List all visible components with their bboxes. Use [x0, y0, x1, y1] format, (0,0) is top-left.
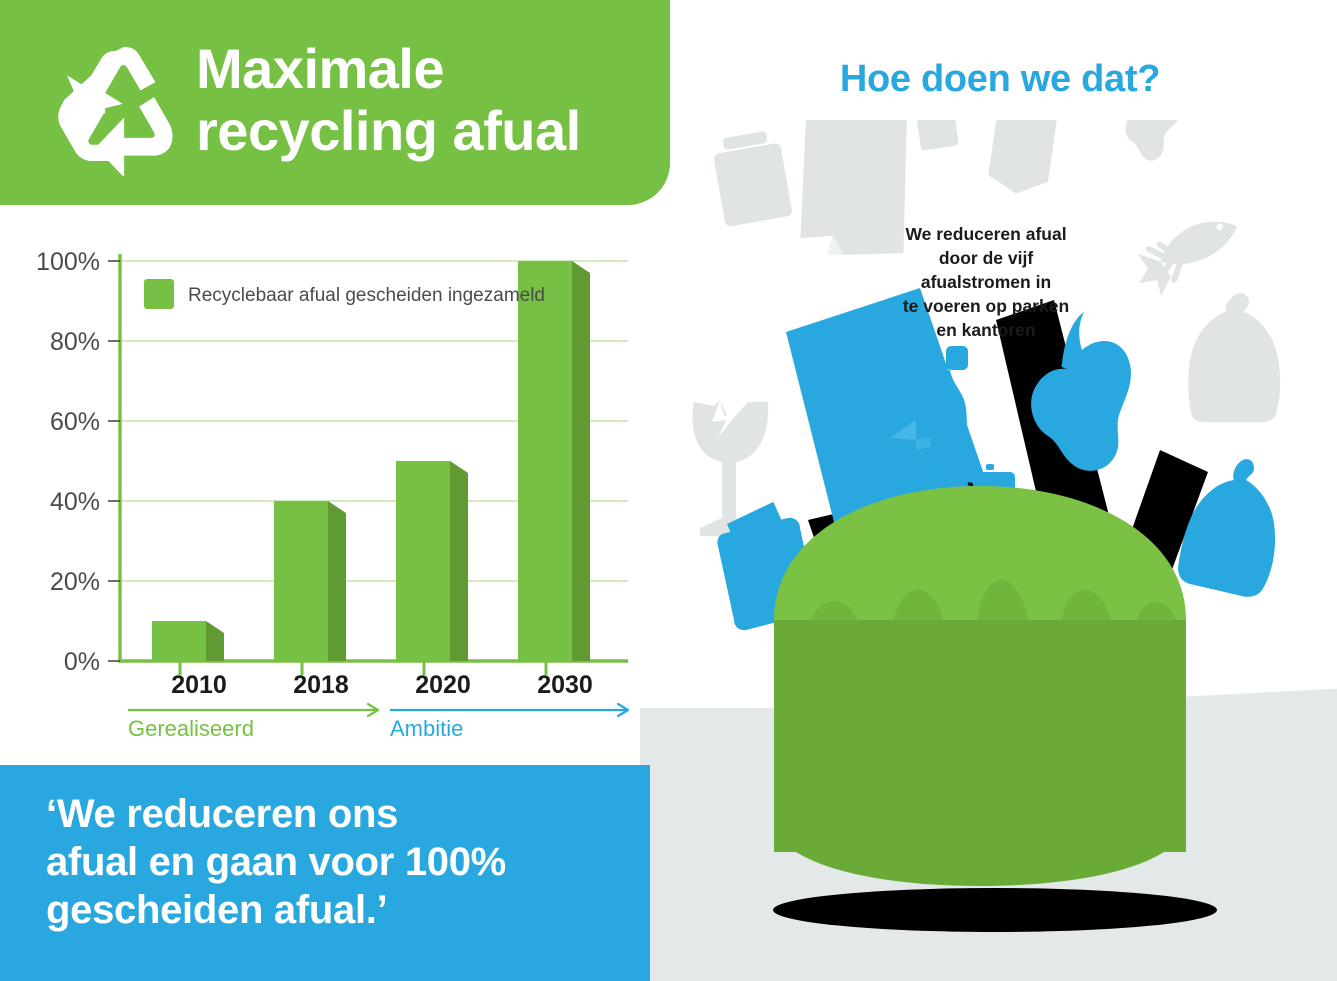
bar-2018: [274, 501, 346, 661]
infographic-root: Maximale recycling afual Hoe doen we dat…: [0, 0, 1337, 981]
right-section-title: Hoe doen we dat?: [780, 58, 1220, 101]
bar-2010: [152, 609, 224, 661]
chart-x-ticks: [180, 661, 546, 675]
phase-label-gerealiseerd: Gerealiseerd: [128, 716, 254, 738]
quote-text: ‘We reduceren ons afual en gaan voor 100…: [46, 790, 626, 934]
y-tick-80: 80%: [50, 328, 100, 356]
bar-2030: [518, 261, 590, 661]
y-tick-60: 60%: [50, 408, 100, 436]
y-tick-20: 20%: [50, 568, 100, 596]
page-title: Maximale recycling afual: [196, 38, 666, 162]
bar-chart-svg: 100% 80% 60% 40% 20% 0%: [0, 228, 680, 738]
phase-arrow-gerealiseerd: [128, 704, 378, 716]
callout-text: We reduceren afual door de vijf afualstr…: [880, 222, 1092, 342]
phase-arrow-ambitie: [390, 704, 628, 716]
y-tick-100: 100%: [36, 248, 100, 276]
chart-legend: Recyclebaar afual gescheiden ingezameld: [144, 279, 545, 309]
x-tick-2030: 2030: [537, 671, 593, 699]
x-tick-2010: 2010: [171, 671, 227, 699]
chart-y-ticks: [108, 261, 120, 661]
x-tick-2020: 2020: [415, 671, 471, 699]
bar-chart: 100% 80% 60% 40% 20% 0%: [0, 228, 680, 738]
y-tick-40: 40%: [50, 488, 100, 516]
bin-shadow: [773, 888, 1217, 932]
bar-2020: [396, 461, 468, 661]
legend-label: Recyclebaar afual gescheiden ingezameld: [188, 285, 545, 306]
bin-body: [774, 620, 1186, 886]
x-tick-2018: 2018: [293, 671, 349, 699]
y-tick-0: 0%: [64, 648, 100, 676]
legend-swatch: [144, 279, 174, 309]
recycle-icon: [48, 40, 184, 176]
phase-label-ambitie: Ambitie: [390, 716, 463, 738]
